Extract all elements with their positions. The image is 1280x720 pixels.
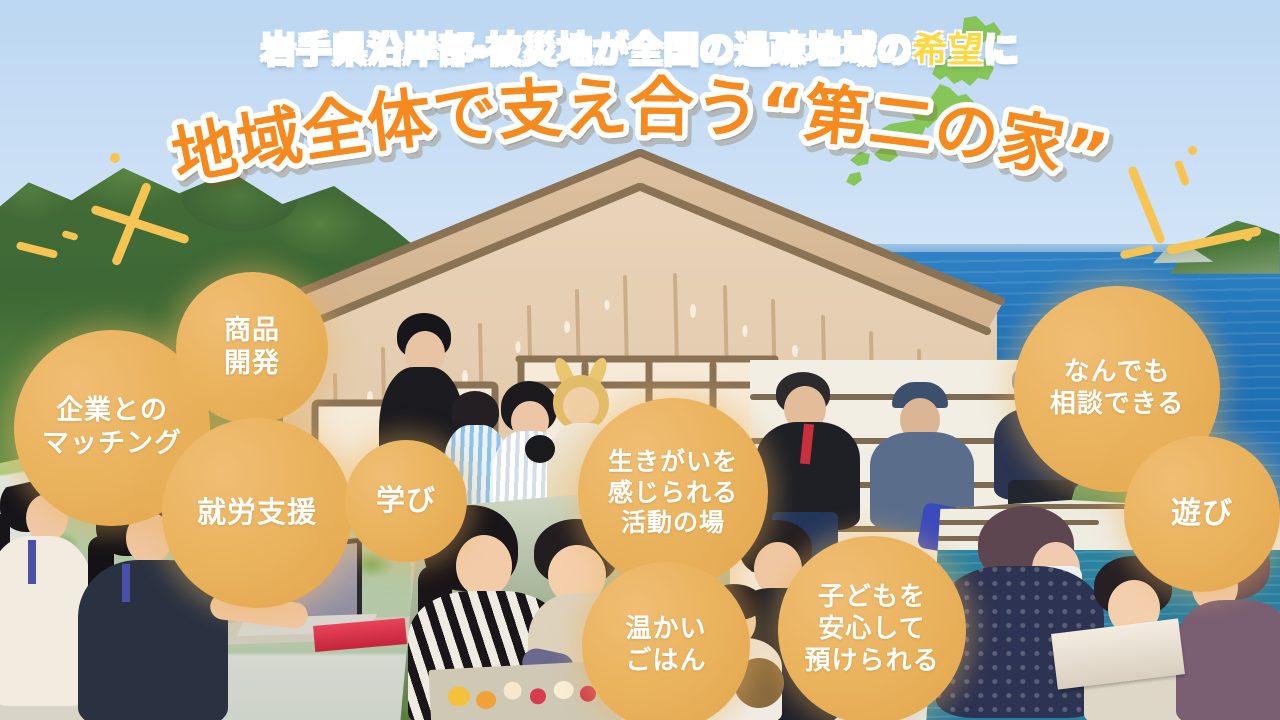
bubble-company-matching-label: 企業との マッチング (30, 395, 194, 461)
bubble-warm-meals-label: 温かい ごはん (613, 614, 718, 677)
bubble-employment-support-label: 就労支援 (185, 495, 329, 530)
bubble-meaningful-activity[interactable]: 生きがいを 感じられる 活動の場 (578, 398, 768, 588)
page-title: 地域全体で支え合う“第二の家” 地域全体で支え合う“第二の家” (110, 86, 1170, 206)
headline-after: に (983, 31, 1019, 71)
headline-highlight: 希望 (912, 31, 983, 71)
headline-before: 岩手県沿岸部・被災地が全国の過疎地域の (261, 31, 912, 71)
bubble-play[interactable]: 遊び (1124, 436, 1280, 592)
bubble-childcare-label: 子どもを 安心して 預けられる (792, 582, 951, 677)
bubble-play-label: 遊び (1159, 496, 1245, 533)
bubble-warm-meals[interactable]: 温かい ごはん (582, 562, 750, 720)
bubble-learning[interactable]: 学び (345, 440, 467, 562)
bubble-meaningful-activity-label: 生きがいを 感じられる 活動の場 (596, 447, 750, 539)
bubble-product-development-label: 商品 開発 (212, 315, 292, 381)
bubble-employment-support[interactable]: 就労支援 (162, 418, 352, 608)
bubble-learning-label: 学び (364, 483, 448, 518)
bubble-consultation-label: なんでも 相談できる (1038, 357, 1196, 420)
bubble-childcare[interactable]: 子どもを 安心して 預けられる (778, 536, 966, 720)
page-subheadline: 岩手県沿岸部・被災地が全国の過疎地域の希望に (0, 22, 1280, 73)
bubble-product-development[interactable]: 商品 開発 (176, 272, 328, 424)
poster-canvas: 岩手県沿岸部・被災地が全国の過疎地域の希望に 地域全体で支え合う“第二の家” 地… (0, 0, 1280, 720)
